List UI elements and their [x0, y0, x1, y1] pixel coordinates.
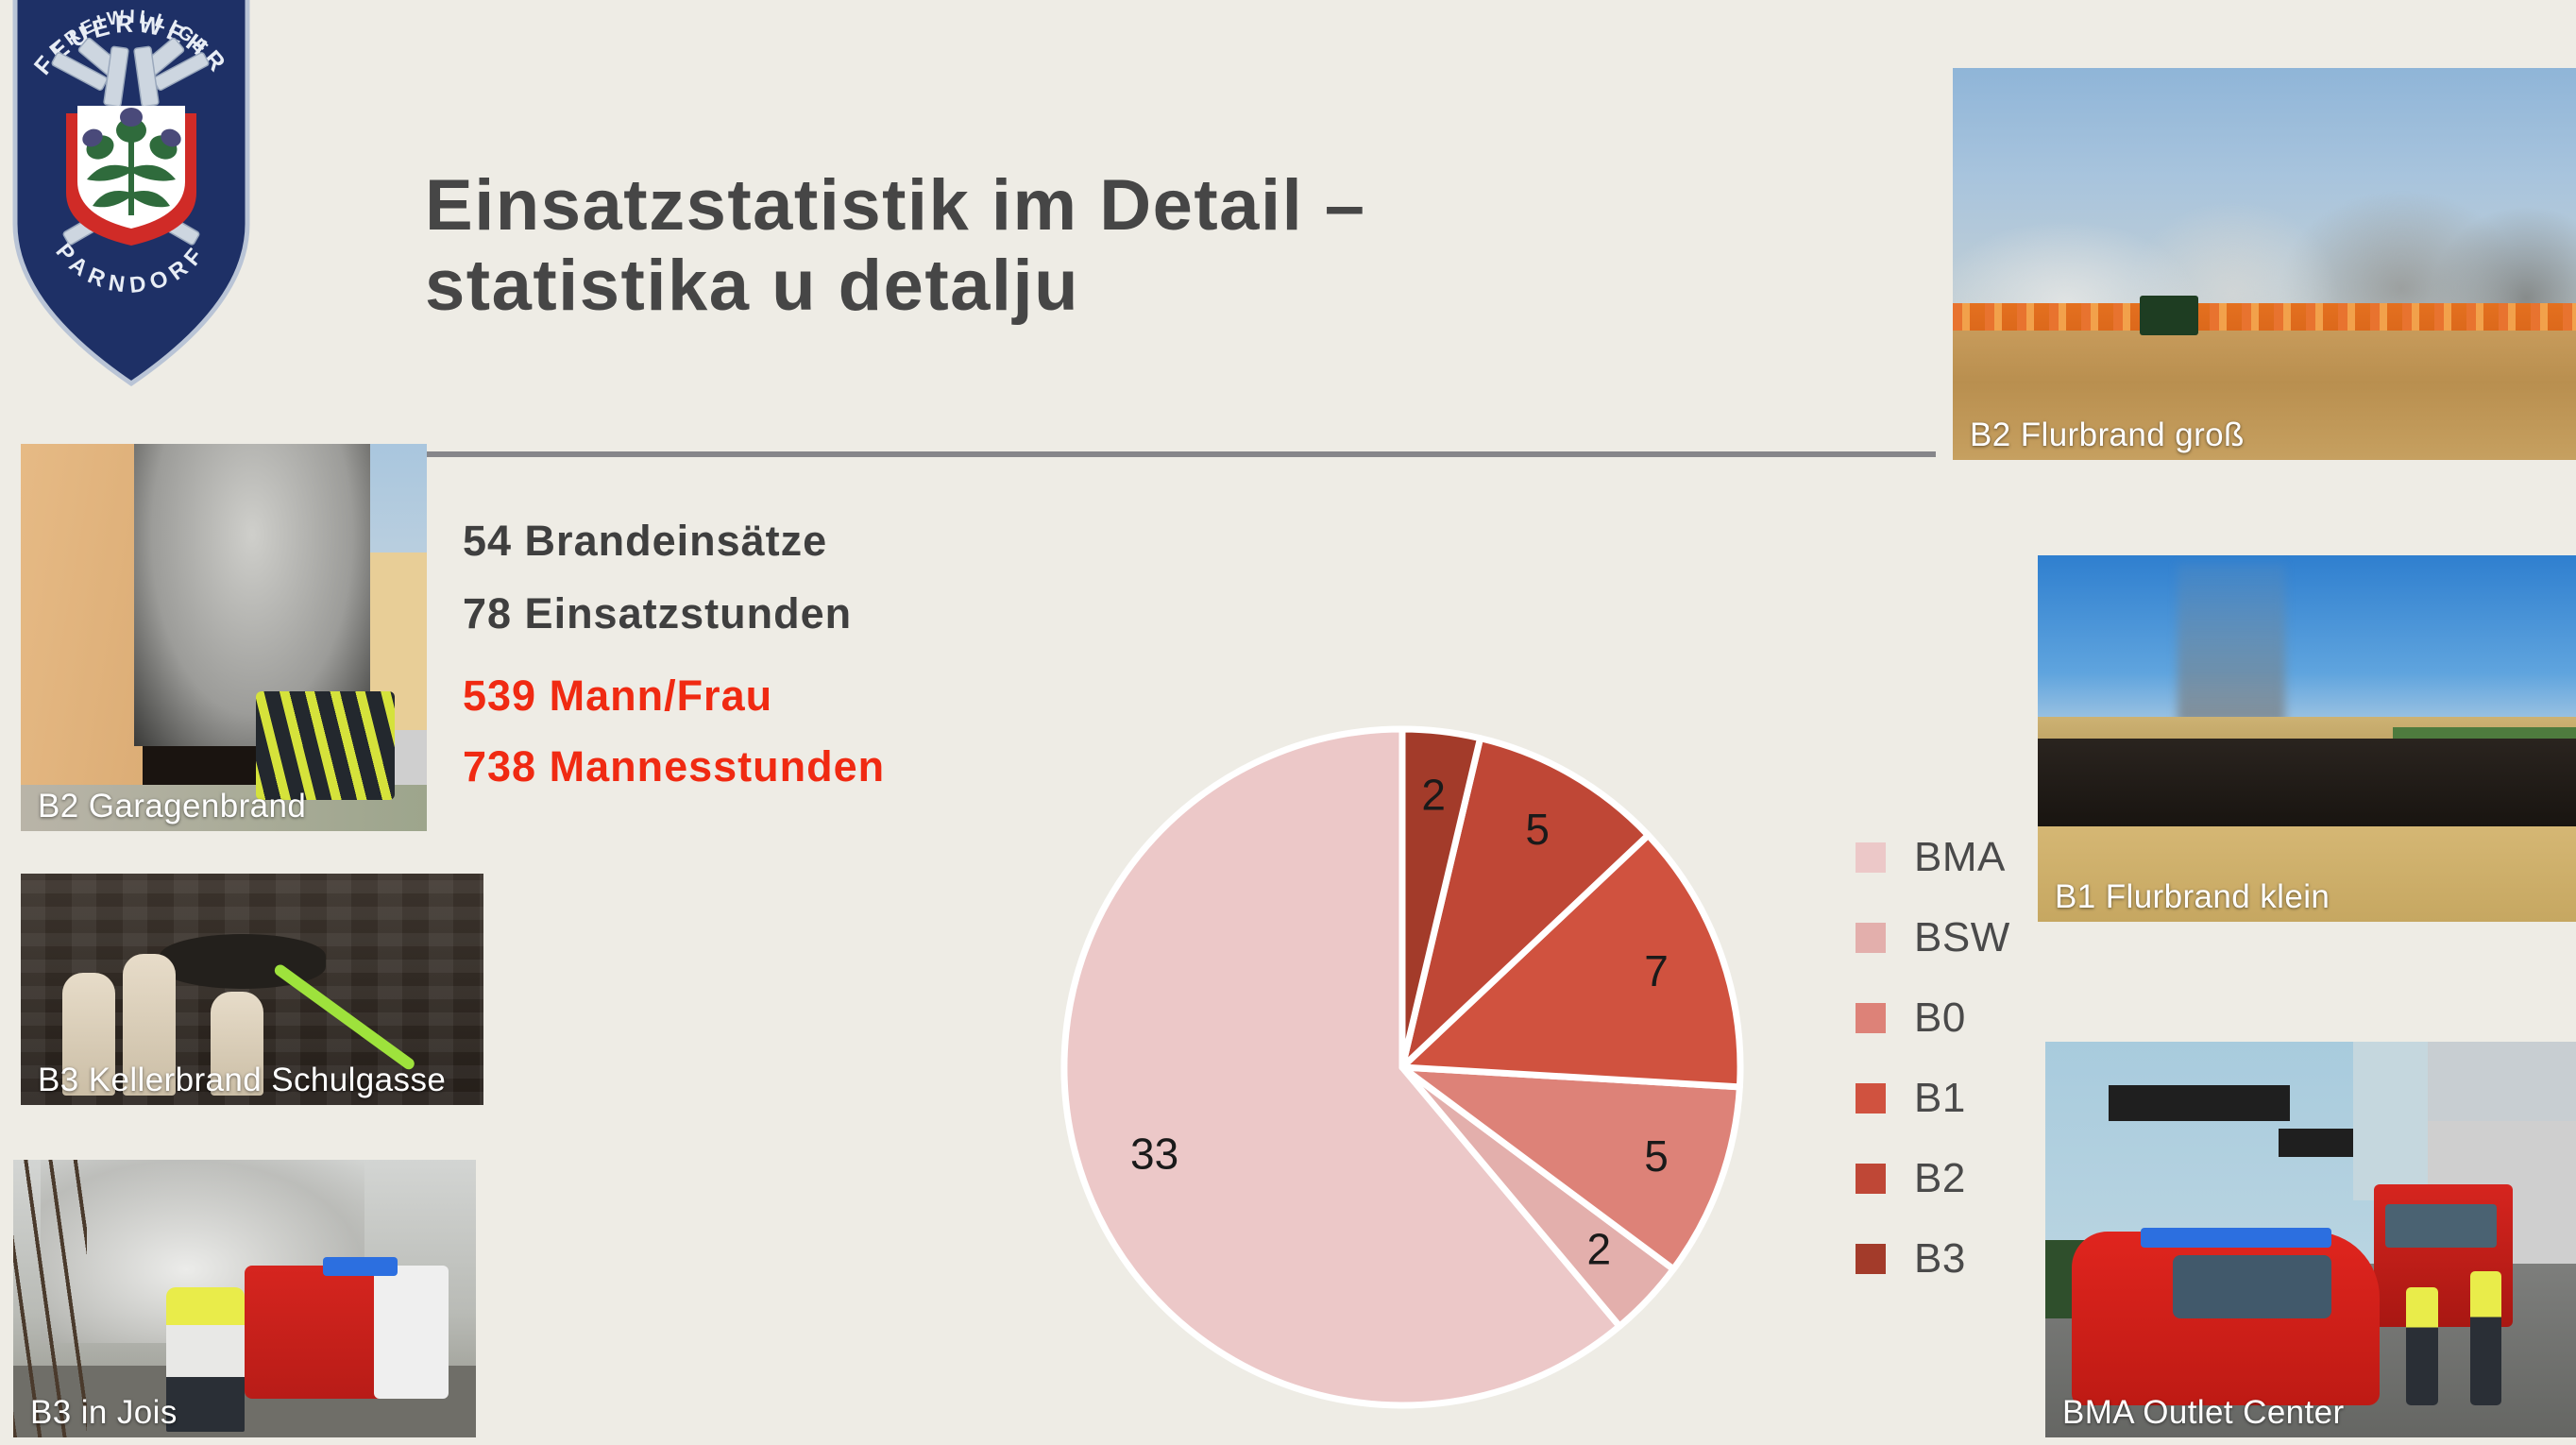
pie-label-bsw: 2 [1587, 1225, 1612, 1274]
photo-b2-garagenbrand: B2 Garagenbrand [21, 444, 427, 831]
photo-content-field-fire-small [2038, 555, 2576, 922]
photo-b1-flurbrand-klein: B1 Flurbrand klein [2038, 555, 2576, 922]
legend-label-b0: B0 [1914, 994, 1966, 1042]
legend-label-bma: BMA [1914, 834, 2006, 881]
stats-red-group: 539 Mann/Frau 738 Mannesstunden [463, 674, 885, 788]
church-tower-shape [2353, 1042, 2428, 1200]
fire-truck-cab-shape [374, 1266, 448, 1399]
pie-label-bma: 33 [1130, 1130, 1178, 1179]
photo-caption: B3 in Jois [30, 1394, 178, 1432]
legend-swatch-bma [1856, 842, 1886, 873]
legend-item-b2[interactable]: B2 [1856, 1138, 2010, 1218]
firefighter-shape [2470, 1271, 2502, 1405]
photo-bma-outlet-center: BMA Outlet Center [2045, 1042, 2576, 1437]
blue-light-shape [323, 1257, 397, 1277]
command-car-windscreen [2173, 1255, 2332, 1318]
chart-legend: BMA BSW B0 B1 B2 B3 [1856, 817, 2010, 1299]
photo-caption: B2 Flurbrand groß [1970, 416, 2245, 454]
tractor-shape [2140, 296, 2198, 335]
legend-label-b1: B1 [1914, 1075, 1966, 1122]
stat-einsatzstunden: 78 Einsatzstunden [463, 592, 885, 635]
title-divider-rule [425, 451, 1936, 457]
legend-swatch-b2 [1856, 1164, 1886, 1194]
pie-chart: 3325752 [1029, 694, 1775, 1440]
statistics-block: 54 Brandeinsätze 78 Einsatzstunden 539 M… [463, 519, 885, 816]
legend-item-b3[interactable]: B3 [1856, 1218, 2010, 1299]
pie-label-b2: 5 [1525, 805, 1550, 854]
photo-caption: B3 Kellerbrand Schulgasse [38, 1062, 446, 1099]
title-line-2: statistika u detalju [425, 246, 1822, 326]
legend-swatch-b1 [1856, 1083, 1886, 1113]
smoke-column-layer [2178, 563, 2285, 724]
slide-title: Einsatzstatistik im Detail – statistika … [425, 165, 1822, 326]
stat-mann-frau: 539 Mann/Frau [463, 674, 885, 717]
pie-label-b0: 5 [1644, 1131, 1669, 1181]
stat-brandeinsaetze: 54 Brandeinsätze [463, 519, 885, 562]
legend-swatch-b3 [1856, 1244, 1886, 1274]
pie-slices-group [1064, 729, 1740, 1405]
crest-svg: FREIWILLIGE FEUERWEHR [9, 0, 253, 389]
sky-layer [2038, 555, 2576, 723]
firefighter-shape [166, 1287, 245, 1432]
photo-b3-kellerbrand-schulgasse: B3 Kellerbrand Schulgasse [21, 874, 483, 1105]
legend-item-bsw[interactable]: BSW [1856, 897, 2010, 977]
fire-engine-windscreen [2385, 1204, 2497, 1248]
photo-content-garage-fire [21, 444, 427, 831]
firefighter-shape [2406, 1287, 2438, 1406]
firefighters-shape [256, 691, 394, 800]
burnt-field-layer [2038, 739, 2576, 834]
photo-caption: B2 Garagenbrand [38, 788, 306, 825]
photo-b2-flurbrand-gross: B2 Flurbrand groß [1953, 68, 2576, 460]
fire-department-crest-logo: FREIWILLIGE FEUERWEHR [9, 0, 253, 389]
pie-label-b3: 2 [1421, 771, 1446, 820]
pie-label-b1: 7 [1644, 946, 1669, 995]
legend-item-b1[interactable]: B1 [1856, 1058, 2010, 1138]
legend-item-b0[interactable]: B0 [1856, 977, 2010, 1058]
pie-chart-svg: 3325752 [1029, 694, 1775, 1440]
photo-caption: BMA Outlet Center [2062, 1394, 2345, 1432]
legend-label-b3: B3 [1914, 1235, 1966, 1283]
legend-label-b2: B2 [1914, 1155, 1966, 1202]
photo-b3-in-jois: B3 in Jois [13, 1160, 476, 1437]
legend-item-bma[interactable]: BMA [1856, 817, 2010, 897]
photo-caption: B1 Flurbrand klein [2055, 878, 2330, 916]
photo-content-outlet-center [2045, 1042, 2576, 1437]
store-sign-shape [2109, 1085, 2289, 1121]
legend-swatch-b0 [1856, 1003, 1886, 1033]
title-line-1: Einsatzstatistik im Detail – [425, 165, 1822, 246]
stat-mannesstunden: 738 Mannesstunden [463, 745, 885, 788]
blue-light-bar-shape [2141, 1228, 2331, 1248]
legend-label-bsw: BSW [1914, 914, 2010, 961]
legend-swatch-bsw [1856, 923, 1886, 953]
photo-content-field-fire-large [1953, 68, 2576, 460]
